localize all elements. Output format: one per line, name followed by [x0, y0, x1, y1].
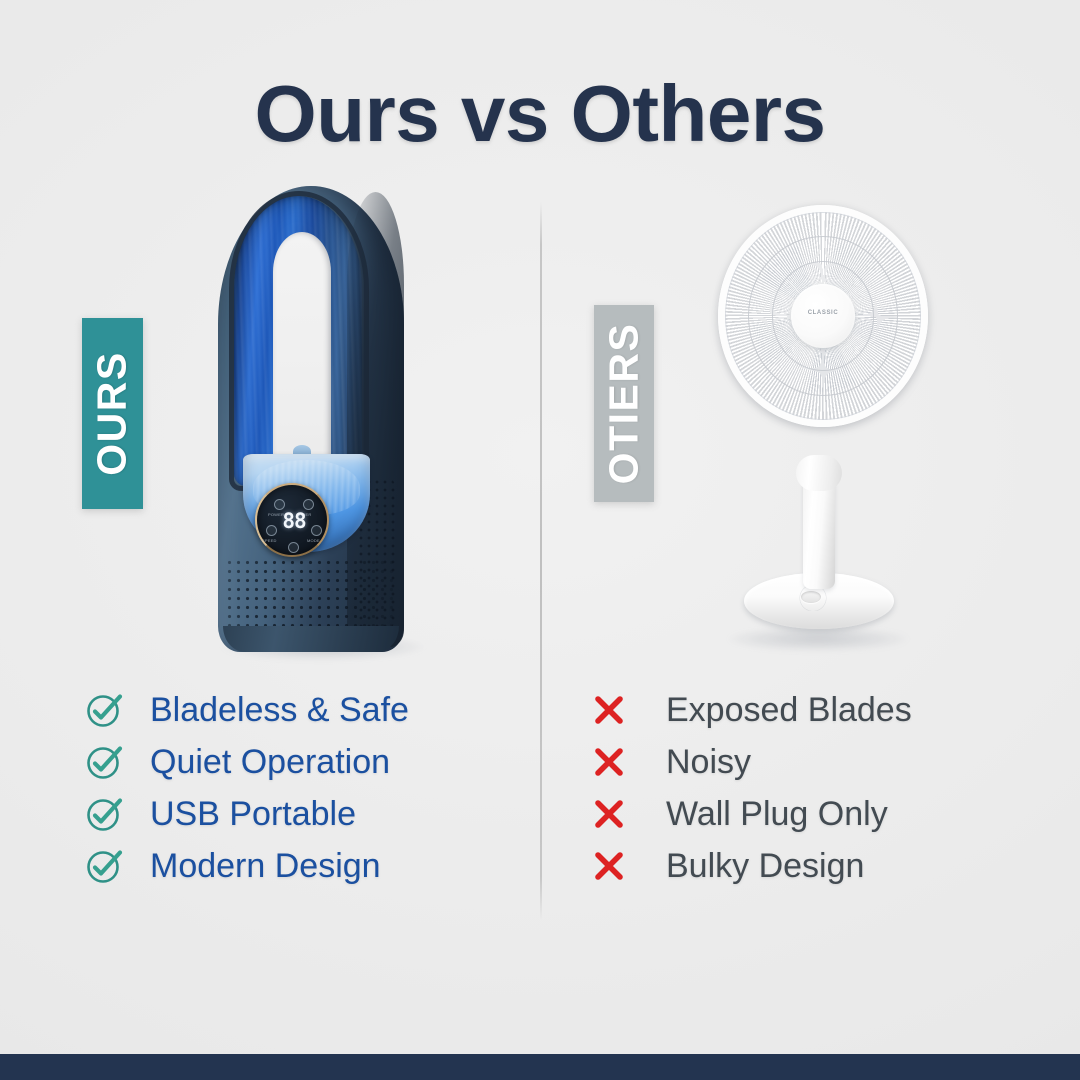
feature-label: Modern Design: [150, 846, 381, 886]
feature-label: Quiet Operation: [150, 742, 390, 782]
check-circle-icon: [86, 847, 132, 885]
list-item: Modern Design: [86, 840, 506, 892]
others-product-image: CLASSIC: [700, 205, 936, 645]
cross-icon: [592, 849, 638, 883]
panel-label-mode: MODE: [307, 538, 320, 543]
check-circle-icon: [86, 691, 132, 729]
bladeless-fan-base: [223, 626, 399, 652]
ours-banner-label: OURS: [89, 351, 136, 475]
feature-label: Wall Plug Only: [666, 794, 888, 834]
others-banner: OTIERS: [594, 305, 654, 502]
pedestal-fan-control-knob[interactable]: [801, 591, 821, 603]
check-circle-icon: [86, 743, 132, 781]
feature-label: USB Portable: [150, 794, 356, 834]
list-item: USB Portable: [86, 788, 506, 840]
feature-label: Noisy: [666, 742, 751, 782]
cross-icon: [592, 797, 638, 831]
list-item: Quiet Operation: [86, 736, 506, 788]
cross-icon: [592, 745, 638, 779]
panel-oscillate-icon[interactable]: [288, 542, 299, 553]
feature-label: Bladeless & Safe: [150, 690, 409, 730]
check-circle-icon: [86, 795, 132, 833]
list-item: Noisy: [592, 736, 1012, 788]
feature-label: Exposed Blades: [666, 690, 912, 730]
others-banner-label: OTIERS: [601, 323, 648, 485]
column-divider: [540, 202, 542, 920]
list-item: Bulky Design: [592, 840, 1012, 892]
bladeless-fan-control-panel[interactable]: POWER TIMER SPEED MODE 88: [255, 483, 329, 557]
ours-banner: OURS: [82, 318, 143, 509]
comparison-infographic: Ours vs Others OURS OTIERS POWER TIMER: [0, 0, 1080, 1080]
panel-digital-display: 88: [257, 511, 331, 532]
cross-icon: [592, 693, 638, 727]
list-item: Wall Plug Only: [592, 788, 1012, 840]
pedestal-fan-neck: [796, 455, 842, 491]
list-item: Bladeless & Safe: [86, 684, 506, 736]
pedestal-fan-guard-rim: [718, 205, 928, 427]
pedestal-fan-head: CLASSIC: [718, 205, 944, 431]
page-title: Ours vs Others: [0, 72, 1080, 156]
feature-label: Bulky Design: [666, 846, 864, 886]
others-feature-list: Exposed Blades Noisy Wall Plug Only: [592, 684, 1012, 892]
bottom-accent-bar: [0, 1054, 1080, 1080]
list-item: Exposed Blades: [592, 684, 1012, 736]
others-product-shadow: [728, 627, 908, 651]
panel-label-speed: SPEED: [262, 538, 277, 543]
ours-feature-list: Bladeless & Safe Quiet Operation USB Por…: [86, 684, 506, 892]
ours-product-image: POWER TIMER SPEED MODE 88: [207, 186, 437, 656]
